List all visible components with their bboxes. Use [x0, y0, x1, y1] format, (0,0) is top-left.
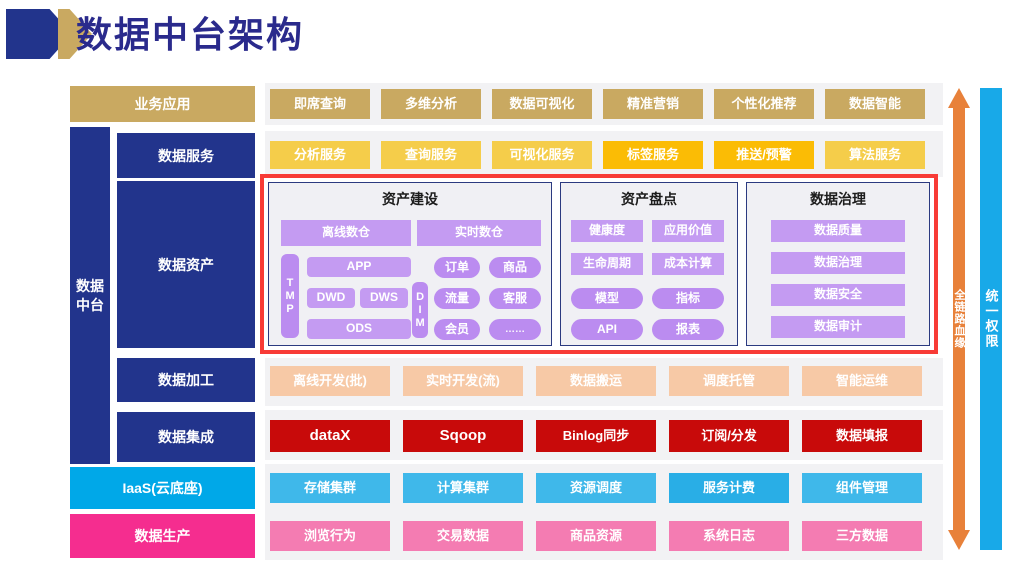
cell-data-process-3[interactable]: 数据搬运	[536, 366, 656, 396]
cell-data-process-1[interactable]: 离线开发(批)	[270, 366, 390, 396]
cell-data-service-3[interactable]: 可视化服务	[492, 141, 592, 169]
cell-data-service-6[interactable]: 算法服务	[825, 141, 925, 169]
cell-data-process-4[interactable]: 调度托管	[669, 366, 789, 396]
chip-realtime-order[interactable]: 订单	[434, 257, 480, 278]
cell-business-app-6[interactable]: 数据智能	[825, 89, 925, 119]
cell-iaas-2[interactable]: 计算集群	[403, 473, 523, 503]
row-label-data-production[interactable]: 数据生产	[70, 514, 255, 558]
cell-business-app-1[interactable]: 即席查询	[270, 89, 370, 119]
chip-realtime-service[interactable]: 客服	[489, 288, 541, 309]
cell-data-production-2[interactable]: 交易数据	[403, 521, 523, 551]
cell-data-production-4[interactable]: 系统日志	[669, 521, 789, 551]
chip-inventory-cost[interactable]: 成本计算	[652, 253, 724, 275]
chip-tmp-layer[interactable]: TMP	[281, 254, 299, 338]
cell-iaas-5[interactable]: 组件管理	[802, 473, 922, 503]
chip-inventory-model[interactable]: 模型	[571, 288, 643, 309]
chip-realtime-product[interactable]: 商品	[489, 257, 541, 278]
chip-dim-layer[interactable]: DIM	[412, 282, 428, 338]
cell-iaas-4[interactable]: 服务计费	[669, 473, 789, 503]
chip-ods-layer[interactable]: ODS	[307, 319, 411, 339]
panel-title-asset-build: 资产建设	[269, 189, 551, 209]
cell-data-production-3[interactable]: 商品资源	[536, 521, 656, 551]
row-label-business-app[interactable]: 业务应用	[70, 86, 255, 122]
row-label-data-integration[interactable]: 数据集成	[117, 412, 255, 462]
cell-data-process-2[interactable]: 实时开发(流)	[403, 366, 523, 396]
cell-business-app-3[interactable]: 数据可视化	[492, 89, 592, 119]
cell-business-app-4[interactable]: 精准营销	[603, 89, 703, 119]
permission-bar: 统一权限	[980, 88, 1002, 550]
cell-business-app-5[interactable]: 个性化推荐	[714, 89, 814, 119]
chip-realtime-traffic[interactable]: 流量	[434, 288, 480, 309]
cell-data-integration-1[interactable]: dataX	[270, 420, 390, 452]
chip-governance-audit[interactable]: 数据审计	[771, 316, 905, 338]
architecture-diagram: 数据中台架构 数据 中台 业务应用 数据服务 数据资产 数据加工 数据集成 Ia…	[0, 0, 1033, 578]
chip-governance-quality[interactable]: 数据质量	[771, 220, 905, 242]
chip-governance-governance[interactable]: 数据治理	[771, 252, 905, 274]
chip-inventory-report[interactable]: 报表	[652, 319, 724, 340]
row-label-iaas[interactable]: IaaS(云底座)	[70, 467, 255, 509]
chip-realtime-warehouse[interactable]: 实时数仓	[417, 220, 541, 246]
cell-data-service-2[interactable]: 查询服务	[381, 141, 481, 169]
cell-data-service-4[interactable]: 标签服务	[603, 141, 703, 169]
row-label-data-service[interactable]: 数据服务	[117, 133, 255, 178]
cell-data-integration-2[interactable]: Sqoop	[403, 420, 523, 452]
chip-dwd-layer[interactable]: DWD	[307, 288, 355, 308]
chip-dws-layer[interactable]: DWS	[360, 288, 408, 308]
cell-data-integration-4[interactable]: 订阅/分发	[669, 420, 789, 452]
chip-realtime-more[interactable]: ……	[489, 319, 541, 340]
chip-inventory-api[interactable]: API	[571, 319, 643, 340]
cell-iaas-1[interactable]: 存储集群	[270, 473, 390, 503]
page-header: 数据中台架构	[0, 0, 1033, 70]
row-label-data-asset[interactable]: 数据资产	[117, 181, 255, 348]
cell-data-service-5[interactable]: 推送/预警	[714, 141, 814, 169]
lineage-label: 全链路血缘	[948, 88, 970, 550]
cell-data-production-1[interactable]: 浏览行为	[270, 521, 390, 551]
page-title: 数据中台架构	[76, 10, 304, 60]
cell-iaas-3[interactable]: 资源调度	[536, 473, 656, 503]
permission-label: 统一权限	[980, 88, 1002, 550]
cell-data-integration-3[interactable]: Binlog同步	[536, 420, 656, 452]
cell-data-service-1[interactable]: 分析服务	[270, 141, 370, 169]
chip-inventory-lifecycle[interactable]: 生命周期	[571, 253, 643, 275]
row-label-data-process[interactable]: 数据加工	[117, 358, 255, 402]
cell-data-production-5[interactable]: 三方数据	[802, 521, 922, 551]
chip-inventory-health[interactable]: 健康度	[571, 220, 643, 242]
chip-app-layer[interactable]: APP	[307, 257, 411, 277]
chip-inventory-metric[interactable]: 指标	[652, 288, 724, 309]
chip-governance-security[interactable]: 数据安全	[771, 284, 905, 306]
panel-title-data-governance: 数据治理	[747, 189, 929, 209]
spine-data-middle-platform: 数据 中台	[70, 127, 110, 464]
chip-realtime-member[interactable]: 会员	[434, 319, 480, 340]
cell-data-integration-5[interactable]: 数据填报	[802, 420, 922, 452]
chip-inventory-app-value[interactable]: 应用价值	[652, 220, 724, 242]
cell-data-process-5[interactable]: 智能运维	[802, 366, 922, 396]
chip-offline-warehouse[interactable]: 离线数仓	[281, 220, 411, 246]
cell-business-app-2[interactable]: 多维分析	[381, 89, 481, 119]
lineage-arrow-bar: 全链路血缘	[948, 88, 970, 550]
panel-title-asset-inventory: 资产盘点	[561, 189, 737, 209]
